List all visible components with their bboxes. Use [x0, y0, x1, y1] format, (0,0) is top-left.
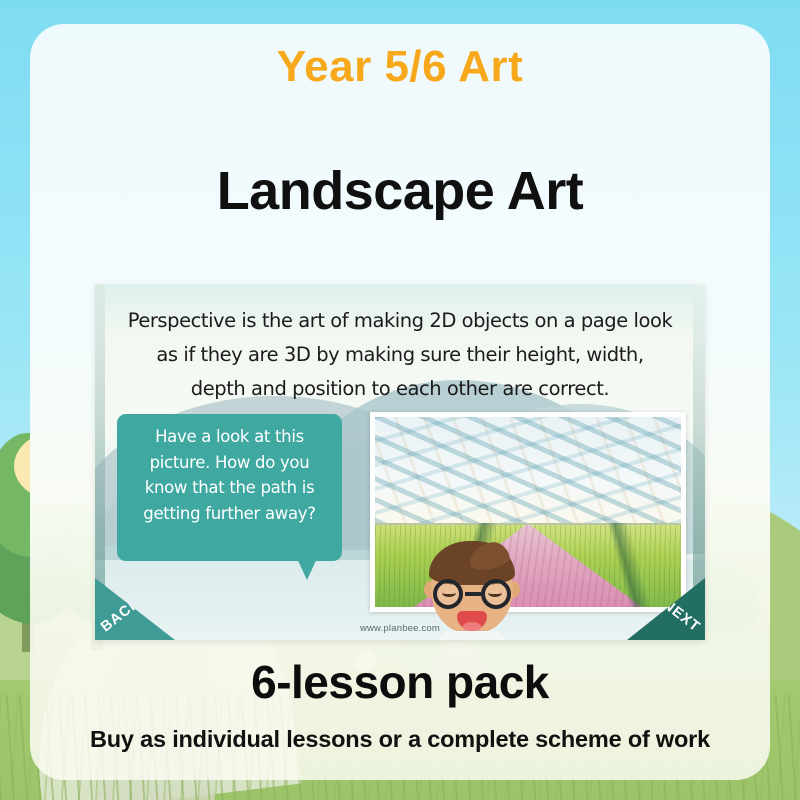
painting-hedge-right — [528, 523, 681, 607]
perspective-painting — [370, 412, 686, 612]
speech-bubble-text: Have a look at this picture. How do you … — [129, 424, 330, 551]
painting-canvas — [375, 417, 681, 607]
painting-clouds — [375, 417, 681, 523]
lesson-pack-label: 6-lesson pack — [0, 655, 800, 709]
slide-body-text: Perspective is the art of making 2D obje… — [127, 304, 673, 406]
speech-bubble: Have a look at this picture. How do you … — [117, 414, 342, 561]
watermark: www.planbee.com — [95, 623, 705, 634]
subject-kicker: Year 5/6 Art — [0, 42, 800, 92]
avatar-eye-right — [488, 589, 502, 597]
speech-bubble-tail — [295, 554, 319, 580]
glasses-bridge — [465, 592, 481, 596]
glasses-icon — [431, 579, 513, 609]
page-title: Landscape Art — [0, 160, 800, 222]
lesson-slide-preview[interactable]: Perspective is the art of making 2D obje… — [95, 284, 705, 640]
purchase-subtitle: Buy as individual lessons or a complete … — [0, 726, 800, 753]
avatar-eye-left — [442, 589, 456, 597]
